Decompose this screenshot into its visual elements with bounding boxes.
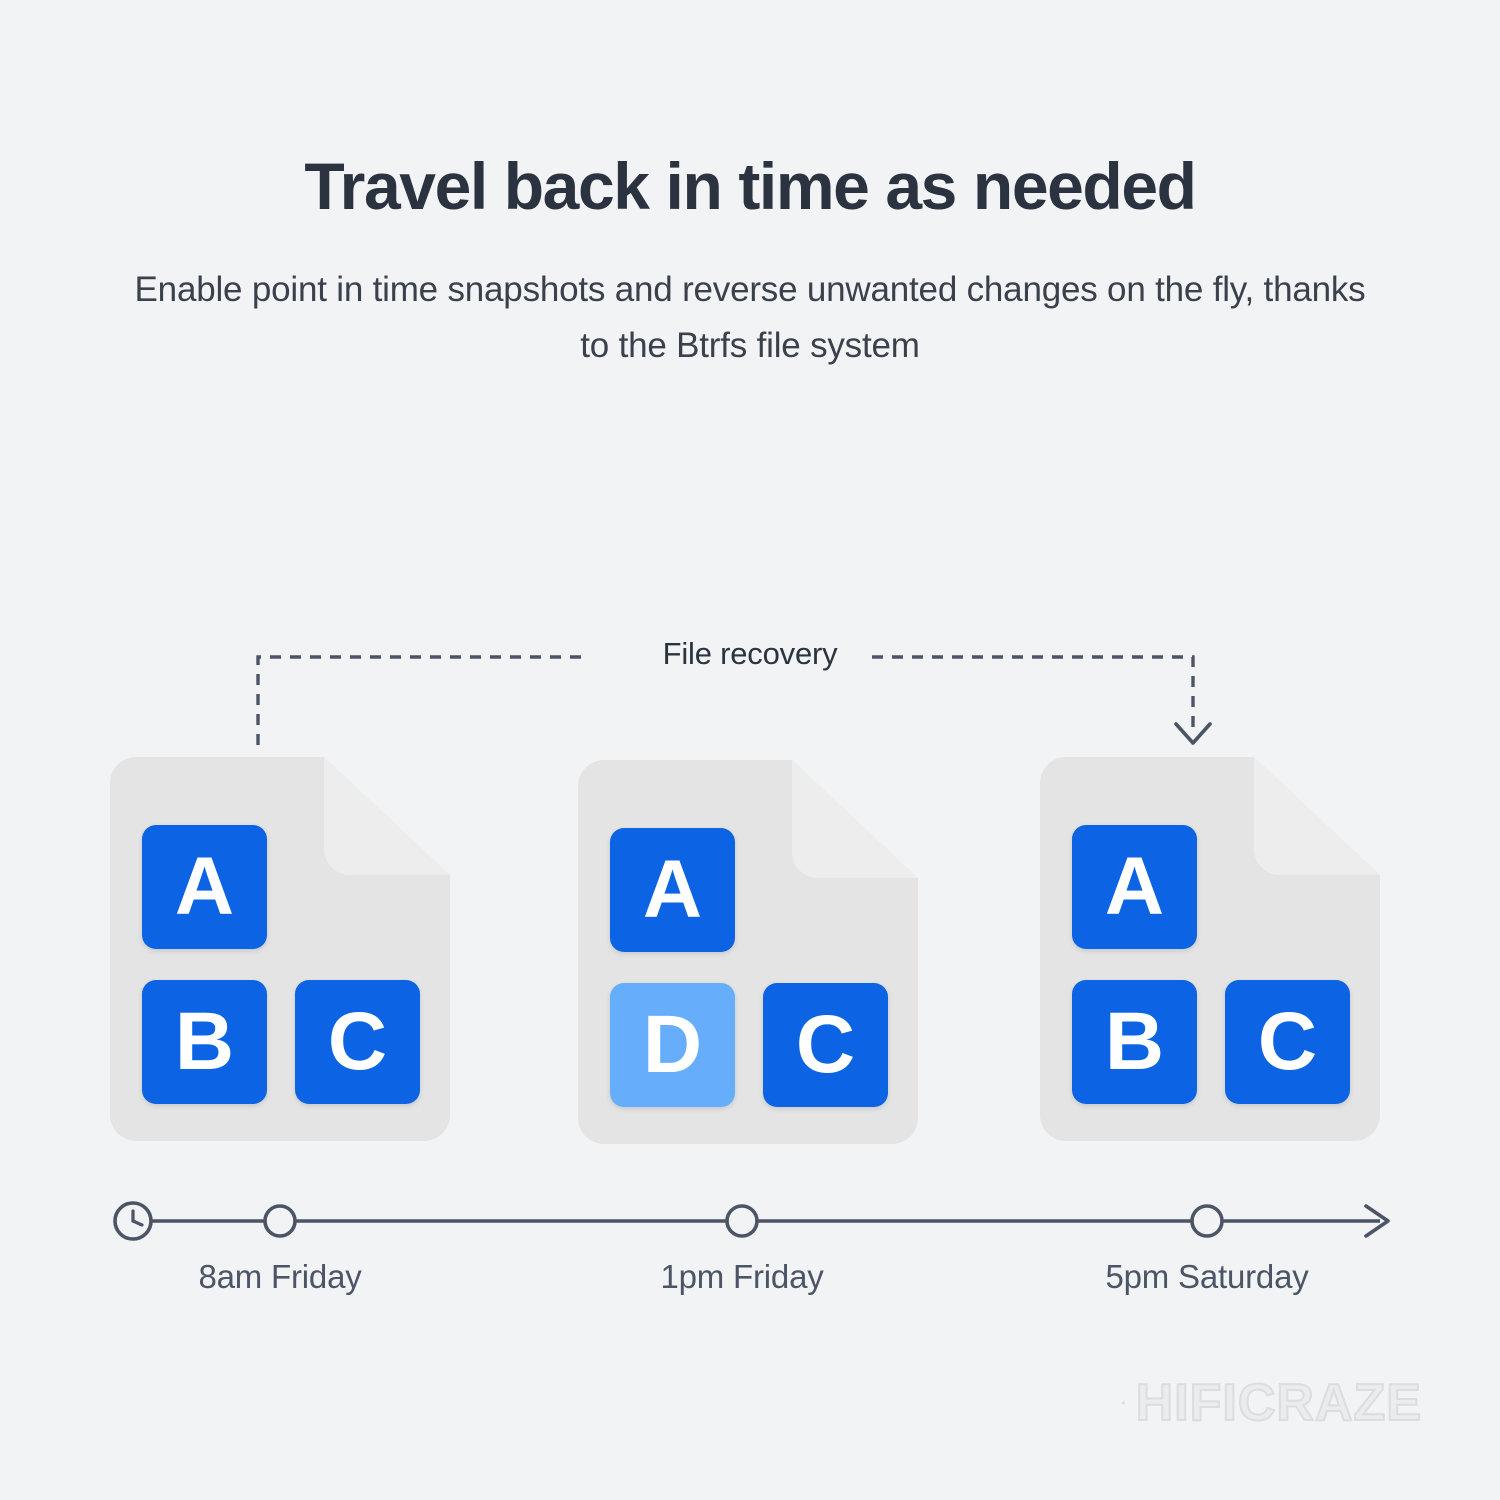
timeline-marker-2 [727,1206,757,1236]
watermark-text: HIFICRAZE [1136,1377,1422,1429]
file-card-snapshot-3[interactable]: A B C [1040,757,1380,1141]
timeline-label-1: 8am Friday [198,1258,361,1296]
timeline-axis [0,1180,1500,1270]
timeline-marker-1 [265,1206,295,1236]
block-grid-snapshot-1: A B C [142,825,422,1105]
infographic-canvas: Travel back in time as needed Enable poi… [0,0,1500,1500]
vinyl-record-icon [1122,1370,1126,1436]
block-tile-c[interactable]: C [1225,980,1350,1104]
block-grid-snapshot-2: A D C [610,828,890,1108]
watermark: HIFICRAZE [1122,1366,1422,1440]
block-tile-c[interactable]: C [295,980,420,1104]
snapshot-timeline [0,1180,1500,1270]
timeline-label-2: 1pm Friday [660,1258,823,1296]
block-tile-b[interactable]: B [142,980,267,1104]
clock-icon [115,1203,151,1239]
file-card-snapshot-2[interactable]: A D C [578,760,918,1144]
block-tile-a[interactable]: A [610,828,735,952]
timeline-label-3: 5pm Saturday [1105,1258,1308,1296]
file-card-snapshot-1[interactable]: A B C [110,757,450,1141]
block-tile-a[interactable]: A [1072,825,1197,949]
timeline-marker-3 [1192,1206,1222,1236]
block-grid-snapshot-3: A B C [1072,825,1352,1105]
block-tile-a[interactable]: A [142,825,267,949]
block-tile-d-changed[interactable]: D [610,983,735,1107]
block-tile-b[interactable]: B [1072,980,1197,1104]
block-tile-c[interactable]: C [763,983,888,1107]
